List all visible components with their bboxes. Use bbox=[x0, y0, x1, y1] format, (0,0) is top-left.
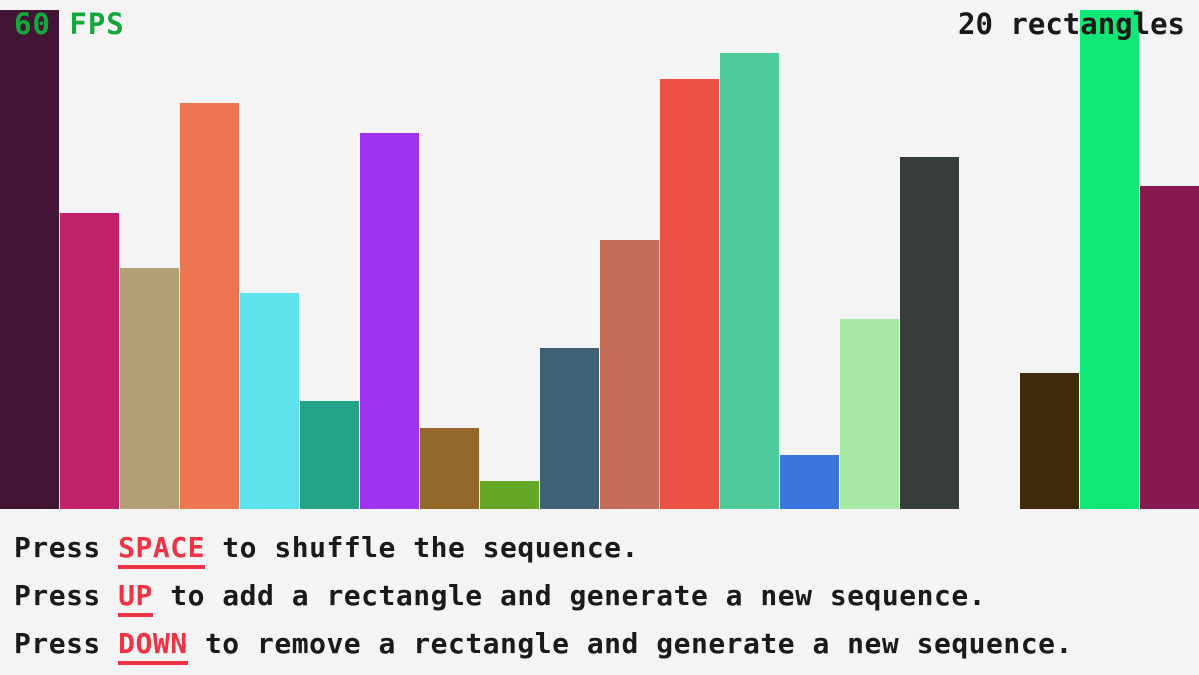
instruction-suffix: to shuffle the sequence. bbox=[205, 531, 639, 564]
bar-rect bbox=[300, 401, 359, 509]
key-badge-up[interactable]: UP bbox=[118, 579, 153, 617]
rectangle-count-label: 20 rectangles bbox=[958, 10, 1185, 39]
rectangle-chart[interactable] bbox=[0, 10, 1199, 509]
instruction-prefix: Press bbox=[14, 627, 118, 660]
instruction-suffix: to add a rectangle and generate a new se… bbox=[153, 579, 986, 612]
bar-rect bbox=[120, 268, 179, 509]
instruction-line: Press UP to add a rectangle and generate… bbox=[14, 572, 1194, 620]
bar-rect bbox=[480, 481, 539, 509]
bar-rect bbox=[60, 213, 119, 509]
bar-rect bbox=[660, 79, 719, 509]
bar-rect bbox=[840, 319, 899, 509]
bar-rect bbox=[1020, 373, 1079, 509]
instruction-prefix: Press bbox=[14, 531, 118, 564]
instruction-line: Press SPACE to shuffle the sequence. bbox=[14, 524, 1194, 572]
app-root: 60 FPS 20 rectangles Press SPACE to shuf… bbox=[0, 0, 1199, 675]
instruction-line: Press DOWN to remove a rectangle and gen… bbox=[14, 620, 1194, 668]
bar-rect bbox=[540, 348, 599, 509]
bar-rect bbox=[900, 157, 959, 509]
bar-rect bbox=[600, 240, 659, 509]
bar-rect bbox=[780, 455, 839, 509]
key-badge-space[interactable]: SPACE bbox=[118, 531, 205, 569]
bar-rect bbox=[1080, 10, 1139, 509]
bar-rect bbox=[360, 133, 419, 509]
key-badge-down[interactable]: DOWN bbox=[118, 627, 187, 665]
fps-counter: 60 FPS bbox=[14, 10, 125, 39]
bar-rect bbox=[720, 53, 779, 509]
bar-rect bbox=[420, 428, 479, 509]
instruction-suffix: to remove a rectangle and generate a new… bbox=[188, 627, 1073, 660]
bar-rect bbox=[180, 103, 239, 509]
bar-rect bbox=[1140, 186, 1199, 509]
instructions-panel: Press SPACE to shuffle the sequence.Pres… bbox=[14, 524, 1194, 668]
bar-rect bbox=[0, 10, 59, 509]
bar-rect bbox=[240, 293, 299, 509]
instruction-prefix: Press bbox=[14, 579, 118, 612]
